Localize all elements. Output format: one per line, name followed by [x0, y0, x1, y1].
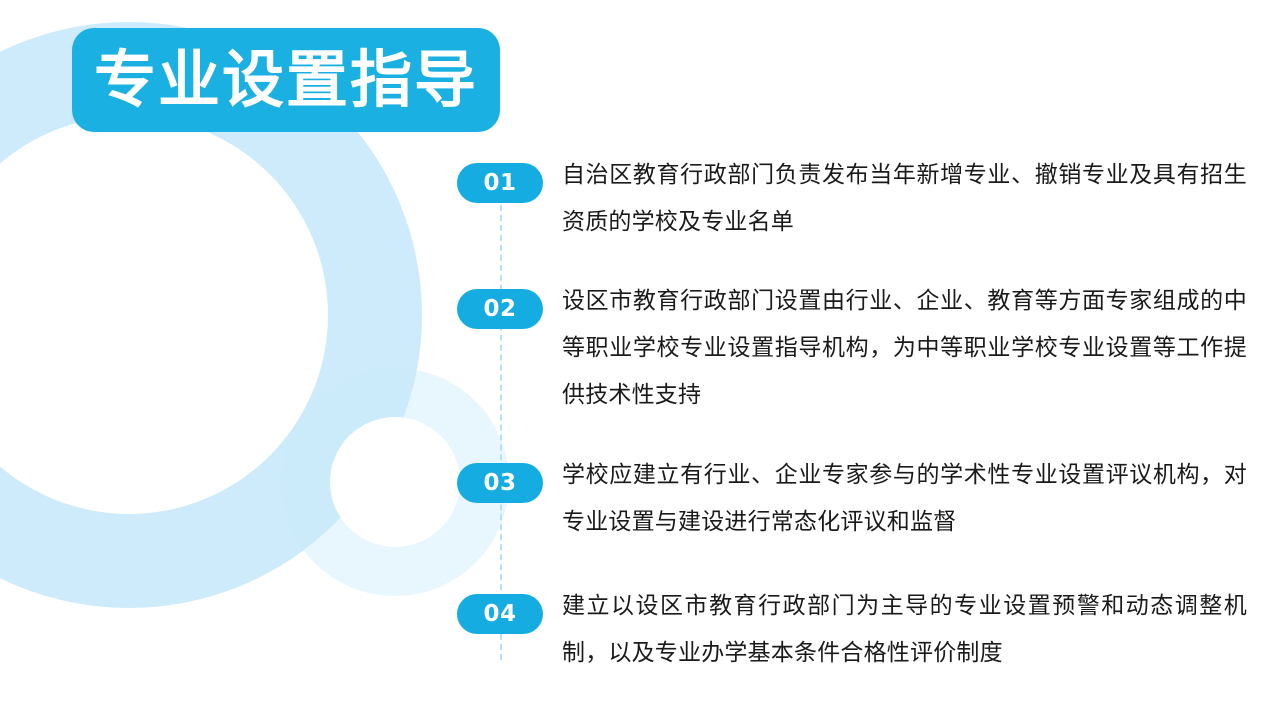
item-body-text: 自治区教育行政部门负责发布当年新增专业、撤销专业及具有招生资质的学校及专业名单 — [562, 152, 1247, 246]
title-banner: 专业设置指导 — [72, 28, 500, 132]
item-body-text: 建立以设区市教育行政部门为主导的专业设置预警和动态调整机制，以及专业办学基本条件… — [562, 583, 1247, 677]
numbered-list: 01 自治区教育行政部门负责发布当年新增专业、撤销专业及具有招生资质的学校及专业… — [457, 155, 1247, 677]
soft-accent-circle-hole — [330, 417, 460, 547]
item-number-badge: 02 — [457, 289, 543, 329]
item-body-text: 设区市教育行政部门设置由行业、企业、教育等方面专家组成的中等职业学校专业设置指导… — [562, 278, 1247, 419]
item-body-text: 学校应建立有行业、企业专家参与的学术性专业设置评议机构，对专业设置与建设进行常态… — [562, 452, 1247, 546]
item-number-badge: 04 — [457, 594, 543, 634]
ring-inner-hole — [0, 116, 328, 514]
slide-canvas: 专业设置指导 01 自治区教育行政部门负责发布当年新增专业、撤销专业及具有招生资… — [0, 0, 1280, 720]
list-item: 01 自治区教育行政部门负责发布当年新增专业、撤销专业及具有招生资质的学校及专业… — [457, 163, 1247, 246]
list-item: 04 建立以设区市教育行政部门为主导的专业设置预警和动态调整机制，以及专业办学基… — [457, 594, 1247, 677]
list-item: 03 学校应建立有行业、企业专家参与的学术性专业设置评议机构，对专业设置与建设进… — [457, 463, 1247, 546]
list-item: 02 设区市教育行政部门设置由行业、企业、教育等方面专家组成的中等职业学校专业设… — [457, 289, 1247, 419]
item-number-badge: 03 — [457, 463, 543, 503]
item-number-badge: 01 — [457, 163, 543, 203]
dashed-connector-line — [500, 195, 502, 660]
page-title: 专业设置指导 — [94, 49, 478, 111]
